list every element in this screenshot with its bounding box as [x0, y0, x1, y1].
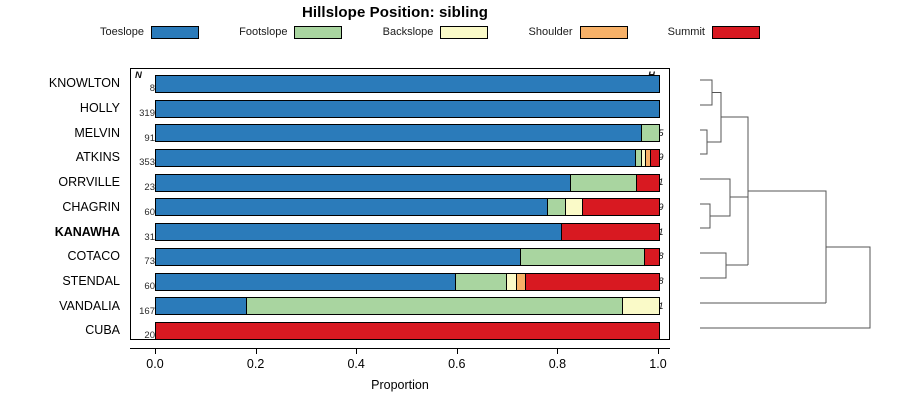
legend-label: Footslope	[239, 26, 287, 38]
row-label-orrville: ORRVILLE	[0, 175, 120, 189]
row-n-value: 353	[131, 157, 155, 168]
stacked-bar[interactable]	[155, 297, 660, 315]
bar-segment-backslope	[506, 274, 515, 290]
row-n-value: 167	[131, 306, 155, 317]
x-tick-label: 0.4	[326, 357, 386, 371]
row-label-knowlton: KNOWLTON	[0, 76, 120, 90]
bar-segment-footslope	[455, 274, 506, 290]
bar-segment-toeslope	[156, 76, 659, 92]
legend-swatch	[440, 26, 488, 39]
x-tick-label: 0.8	[527, 357, 587, 371]
bar-segment-toeslope	[156, 274, 455, 290]
row-label-cuba: CUBA	[0, 323, 120, 337]
x-axis-label: Proportion	[130, 378, 670, 392]
x-tick	[256, 348, 257, 354]
legend-label: Backslope	[383, 26, 434, 38]
legend: ToeslopeFootslopeBackslopeShoulderSummit	[100, 24, 760, 40]
stacked-bar[interactable]	[155, 75, 660, 93]
x-tick	[658, 348, 659, 354]
row-n-value: 23	[131, 182, 155, 193]
legend-swatch	[294, 26, 342, 39]
row-n-value: 60	[131, 207, 155, 218]
bar-segment-footslope	[246, 298, 622, 314]
legend-item-backslope: Backslope	[383, 26, 489, 39]
stacked-bar[interactable]	[155, 174, 660, 192]
x-tick-label: 0.6	[427, 357, 487, 371]
bar-segment-toeslope	[156, 298, 246, 314]
row-label-vandalia: VANDALIA	[0, 299, 120, 313]
x-tick-label: 0.2	[226, 357, 286, 371]
bar-segment-summit	[636, 175, 659, 191]
dendrogram	[690, 68, 900, 340]
row-n-value: 319	[131, 108, 155, 119]
row-n-value: 8	[131, 83, 155, 94]
bar-segment-toeslope	[156, 224, 561, 240]
x-tick	[557, 348, 558, 354]
row-n-value: 91	[131, 133, 155, 144]
stacked-bar[interactable]	[155, 100, 660, 118]
legend-label: Toeslope	[100, 26, 144, 38]
bar-segment-footslope	[641, 125, 659, 141]
x-tick	[155, 348, 156, 354]
row-label-melvin: MELVIN	[0, 126, 120, 140]
stacked-bar[interactable]	[155, 198, 660, 216]
bar-segment-summit	[650, 150, 659, 166]
row-n-value: 73	[131, 256, 155, 267]
stacked-bar[interactable]	[155, 273, 660, 291]
legend-swatch	[712, 26, 760, 39]
bar-segment-summit	[561, 224, 659, 240]
bar-segment-toeslope	[156, 199, 547, 215]
x-tick-label: 1.0	[628, 357, 688, 371]
bar-segment-footslope	[520, 249, 645, 265]
bar-segment-footslope	[547, 199, 565, 215]
row-label-cotaco: COTACO	[0, 249, 120, 263]
x-tick	[356, 348, 357, 354]
row-n-value: 60	[131, 281, 155, 292]
stacked-bar[interactable]	[155, 248, 660, 266]
bar-segment-toeslope	[156, 125, 641, 141]
bar-segment-summit	[644, 249, 659, 265]
row-n-value: 31	[131, 232, 155, 243]
legend-item-summit: Summit	[668, 26, 760, 39]
legend-item-toeslope: Toeslope	[100, 26, 199, 39]
stacked-bar[interactable]	[155, 124, 660, 142]
row-label-kanawha: KANAWHA	[0, 225, 120, 239]
legend-item-shoulder: Shoulder	[529, 26, 628, 39]
bar-segment-backslope	[565, 199, 583, 215]
legend-label: Summit	[668, 26, 705, 38]
legend-item-footslope: Footslope	[239, 26, 342, 39]
stacked-bar[interactable]	[155, 322, 660, 340]
bar-segment-summit	[525, 274, 659, 290]
legend-label: Shoulder	[529, 26, 573, 38]
legend-swatch	[580, 26, 628, 39]
bar-segment-toeslope	[156, 150, 635, 166]
bar-segment-backslope	[622, 298, 659, 314]
x-axis-line	[130, 348, 670, 349]
bar-segment-toeslope	[156, 101, 659, 117]
bar-segment-footslope	[570, 175, 636, 191]
bar-segment-toeslope	[156, 175, 570, 191]
bar-segment-summit	[582, 199, 659, 215]
bar-segment-shoulder	[516, 274, 525, 290]
dendrogram-svg	[690, 68, 900, 340]
row-label-stendal: STENDAL	[0, 274, 120, 288]
row-n-value: 20	[131, 330, 155, 341]
stacked-bar[interactable]	[155, 223, 660, 241]
row-label-chagrin: CHAGRIN	[0, 200, 120, 214]
x-tick-label: 0.0	[125, 357, 185, 371]
chart-title: Hillslope Position: sibling	[0, 4, 900, 21]
legend-swatch	[151, 26, 199, 39]
bar-segment-toeslope	[156, 249, 520, 265]
row-label-holly: HOLLY	[0, 101, 120, 115]
stacked-bar[interactable]	[155, 149, 660, 167]
row-label-atkins: ATKINS	[0, 150, 120, 164]
x-tick	[457, 348, 458, 354]
bar-segment-summit	[156, 323, 659, 339]
